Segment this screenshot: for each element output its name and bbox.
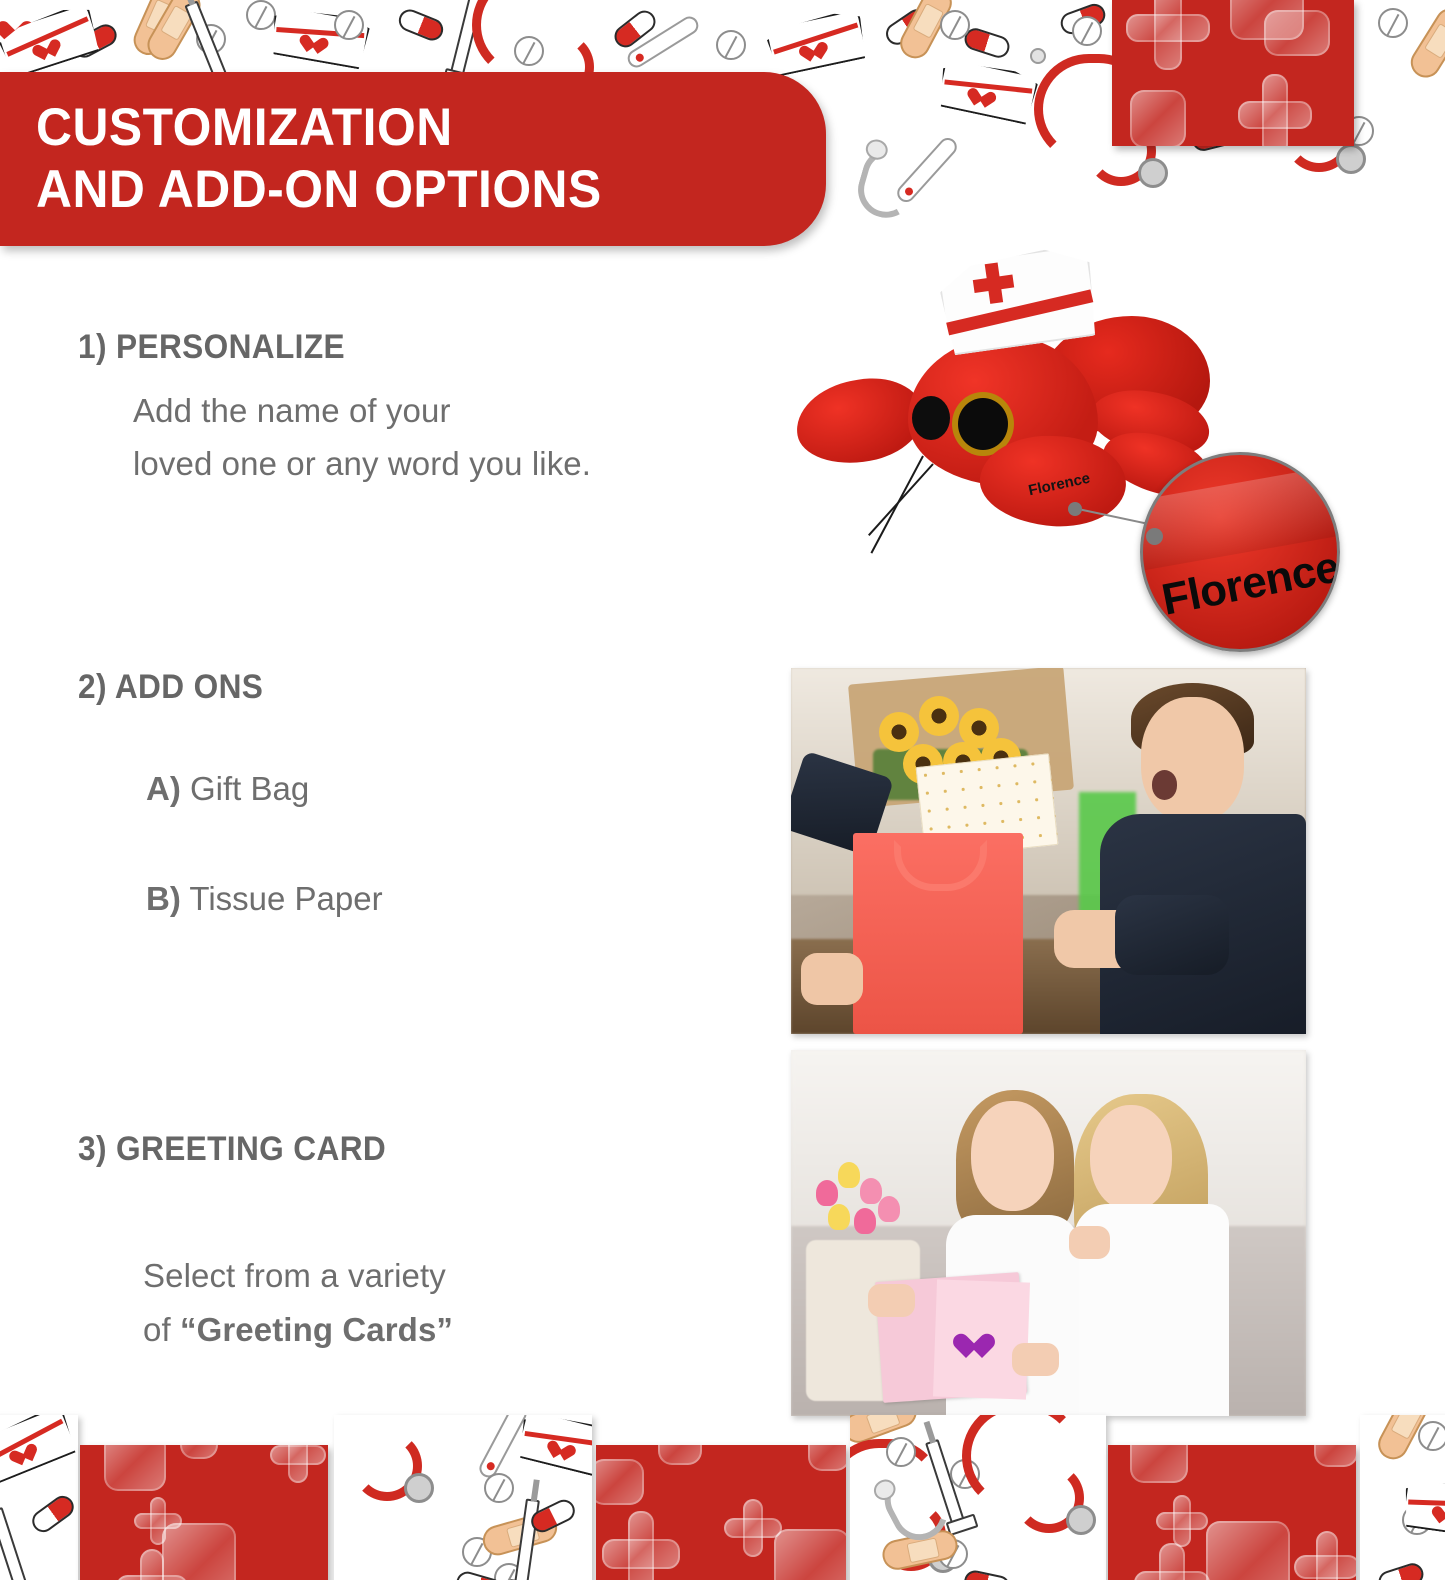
rounded-square-shape	[1314, 1445, 1356, 1467]
plush-antenna	[868, 463, 934, 536]
nurse-cap-icon	[934, 47, 1041, 130]
greeting-card-photo	[791, 1050, 1306, 1416]
pattern-tile	[850, 1415, 1106, 1580]
tablet-icon	[886, 1437, 916, 1467]
stethoscope-icon	[334, 1415, 450, 1509]
heart-icon	[966, 1335, 996, 1361]
pattern-tile	[334, 1415, 592, 1580]
pill-capsule-icon	[396, 6, 447, 44]
rounded-square-shape	[162, 1523, 236, 1580]
rounded-square-shape	[104, 1445, 166, 1491]
nurse-cap-icon	[762, 0, 869, 81]
rounded-square-shape	[180, 1445, 218, 1459]
tablet-icon	[1072, 16, 1102, 46]
magnifier-circle: Florence	[1140, 452, 1340, 652]
cross-icon	[270, 1445, 326, 1483]
stethoscope-ear-icon	[851, 142, 924, 225]
nurse-cap-icon	[1400, 1467, 1445, 1544]
banner-title-line-1: CUSTOMIZATION	[36, 97, 779, 159]
cross-icon	[1126, 0, 1210, 70]
rounded-square-shape	[1264, 10, 1330, 56]
red-cross-tile	[80, 1445, 328, 1580]
tablet-icon	[484, 1473, 514, 1503]
step-3-body-quoted: “Greeting Cards”	[180, 1311, 453, 1348]
addon-item-tissue-paper: B) Tissue Paper	[146, 880, 383, 918]
pill-capsule-icon	[1376, 1560, 1427, 1580]
nurse-cap-icon	[936, 238, 1101, 362]
magnifier-focus-dot	[1146, 528, 1163, 545]
rounded-square-shape	[596, 1459, 644, 1505]
tablet-icon	[246, 0, 276, 30]
tablet-icon	[1418, 1421, 1445, 1451]
cross-icon	[1156, 1495, 1208, 1547]
nurse-cap-icon	[0, 1415, 78, 1491]
addon-item-gift-bag: A) Gift Bag	[146, 770, 309, 808]
plush-eye	[958, 398, 1008, 450]
addon-label-tissue-paper: Tissue Paper	[189, 880, 382, 917]
cross-icon	[1134, 1543, 1210, 1580]
tulip-bouquet	[812, 1152, 936, 1247]
gift-bag-photo	[791, 668, 1306, 1034]
bandage-icon	[1405, 3, 1445, 83]
addon-marker-b: B)	[146, 880, 181, 917]
tablet-icon	[334, 10, 364, 40]
cross-icon	[602, 1511, 680, 1580]
step-2-heading: 2) ADD ONS	[78, 668, 263, 707]
rounded-square-shape	[808, 1445, 846, 1471]
plush-eye	[912, 396, 950, 440]
title-banner: CUSTOMIZATION AND ADD-ON OPTIONS	[0, 72, 826, 246]
plush-toy-illustration: Florence Florence	[790, 240, 1350, 660]
red-cross-tile-header	[1112, 0, 1354, 146]
bottom-decorative-strip	[0, 1400, 1445, 1580]
addon-label-gift-bag: Gift Bag	[190, 770, 309, 807]
addon-marker-a: A)	[146, 770, 181, 807]
nurse-cap-icon	[0, 0, 104, 83]
rounded-square-shape	[1130, 90, 1186, 146]
rounded-square-shape	[1130, 1445, 1188, 1483]
banner-title-line-2: AND ADD-ON OPTIONS	[36, 159, 779, 221]
promo-page: CUSTOMIZATION AND ADD-ON OPTIONS 1) PERS…	[0, 0, 1445, 1580]
rounded-square-shape	[774, 1529, 846, 1580]
rounded-square-shape	[1206, 1521, 1290, 1580]
magnifier-anchor-dot	[1068, 502, 1082, 516]
syringe-icon	[0, 1507, 29, 1580]
pill-capsule-icon	[28, 1492, 78, 1537]
step-3-body: Select from a variety of “Greeting Cards…	[143, 1196, 783, 1356]
step-1-heading: 1) PERSONALIZE	[78, 328, 345, 367]
red-cross-icon	[971, 261, 1016, 306]
tablet-icon	[716, 30, 746, 60]
step-3-heading: 3) GREETING CARD	[78, 1130, 386, 1169]
red-cross-tile	[596, 1445, 846, 1580]
cross-icon	[1238, 74, 1312, 146]
red-cross-tile	[1108, 1445, 1356, 1580]
tablet-icon	[1378, 8, 1408, 38]
nurse-cap-icon	[514, 1415, 592, 1484]
tablet-icon	[940, 10, 970, 40]
pattern-tile	[1360, 1415, 1445, 1580]
rounded-square-shape	[658, 1445, 702, 1465]
pattern-tile	[0, 1415, 78, 1580]
stethoscope-icon	[962, 1415, 1106, 1541]
step-1-body: Add the name of your loved one or any wo…	[133, 384, 793, 491]
cross-icon	[1294, 1531, 1356, 1580]
